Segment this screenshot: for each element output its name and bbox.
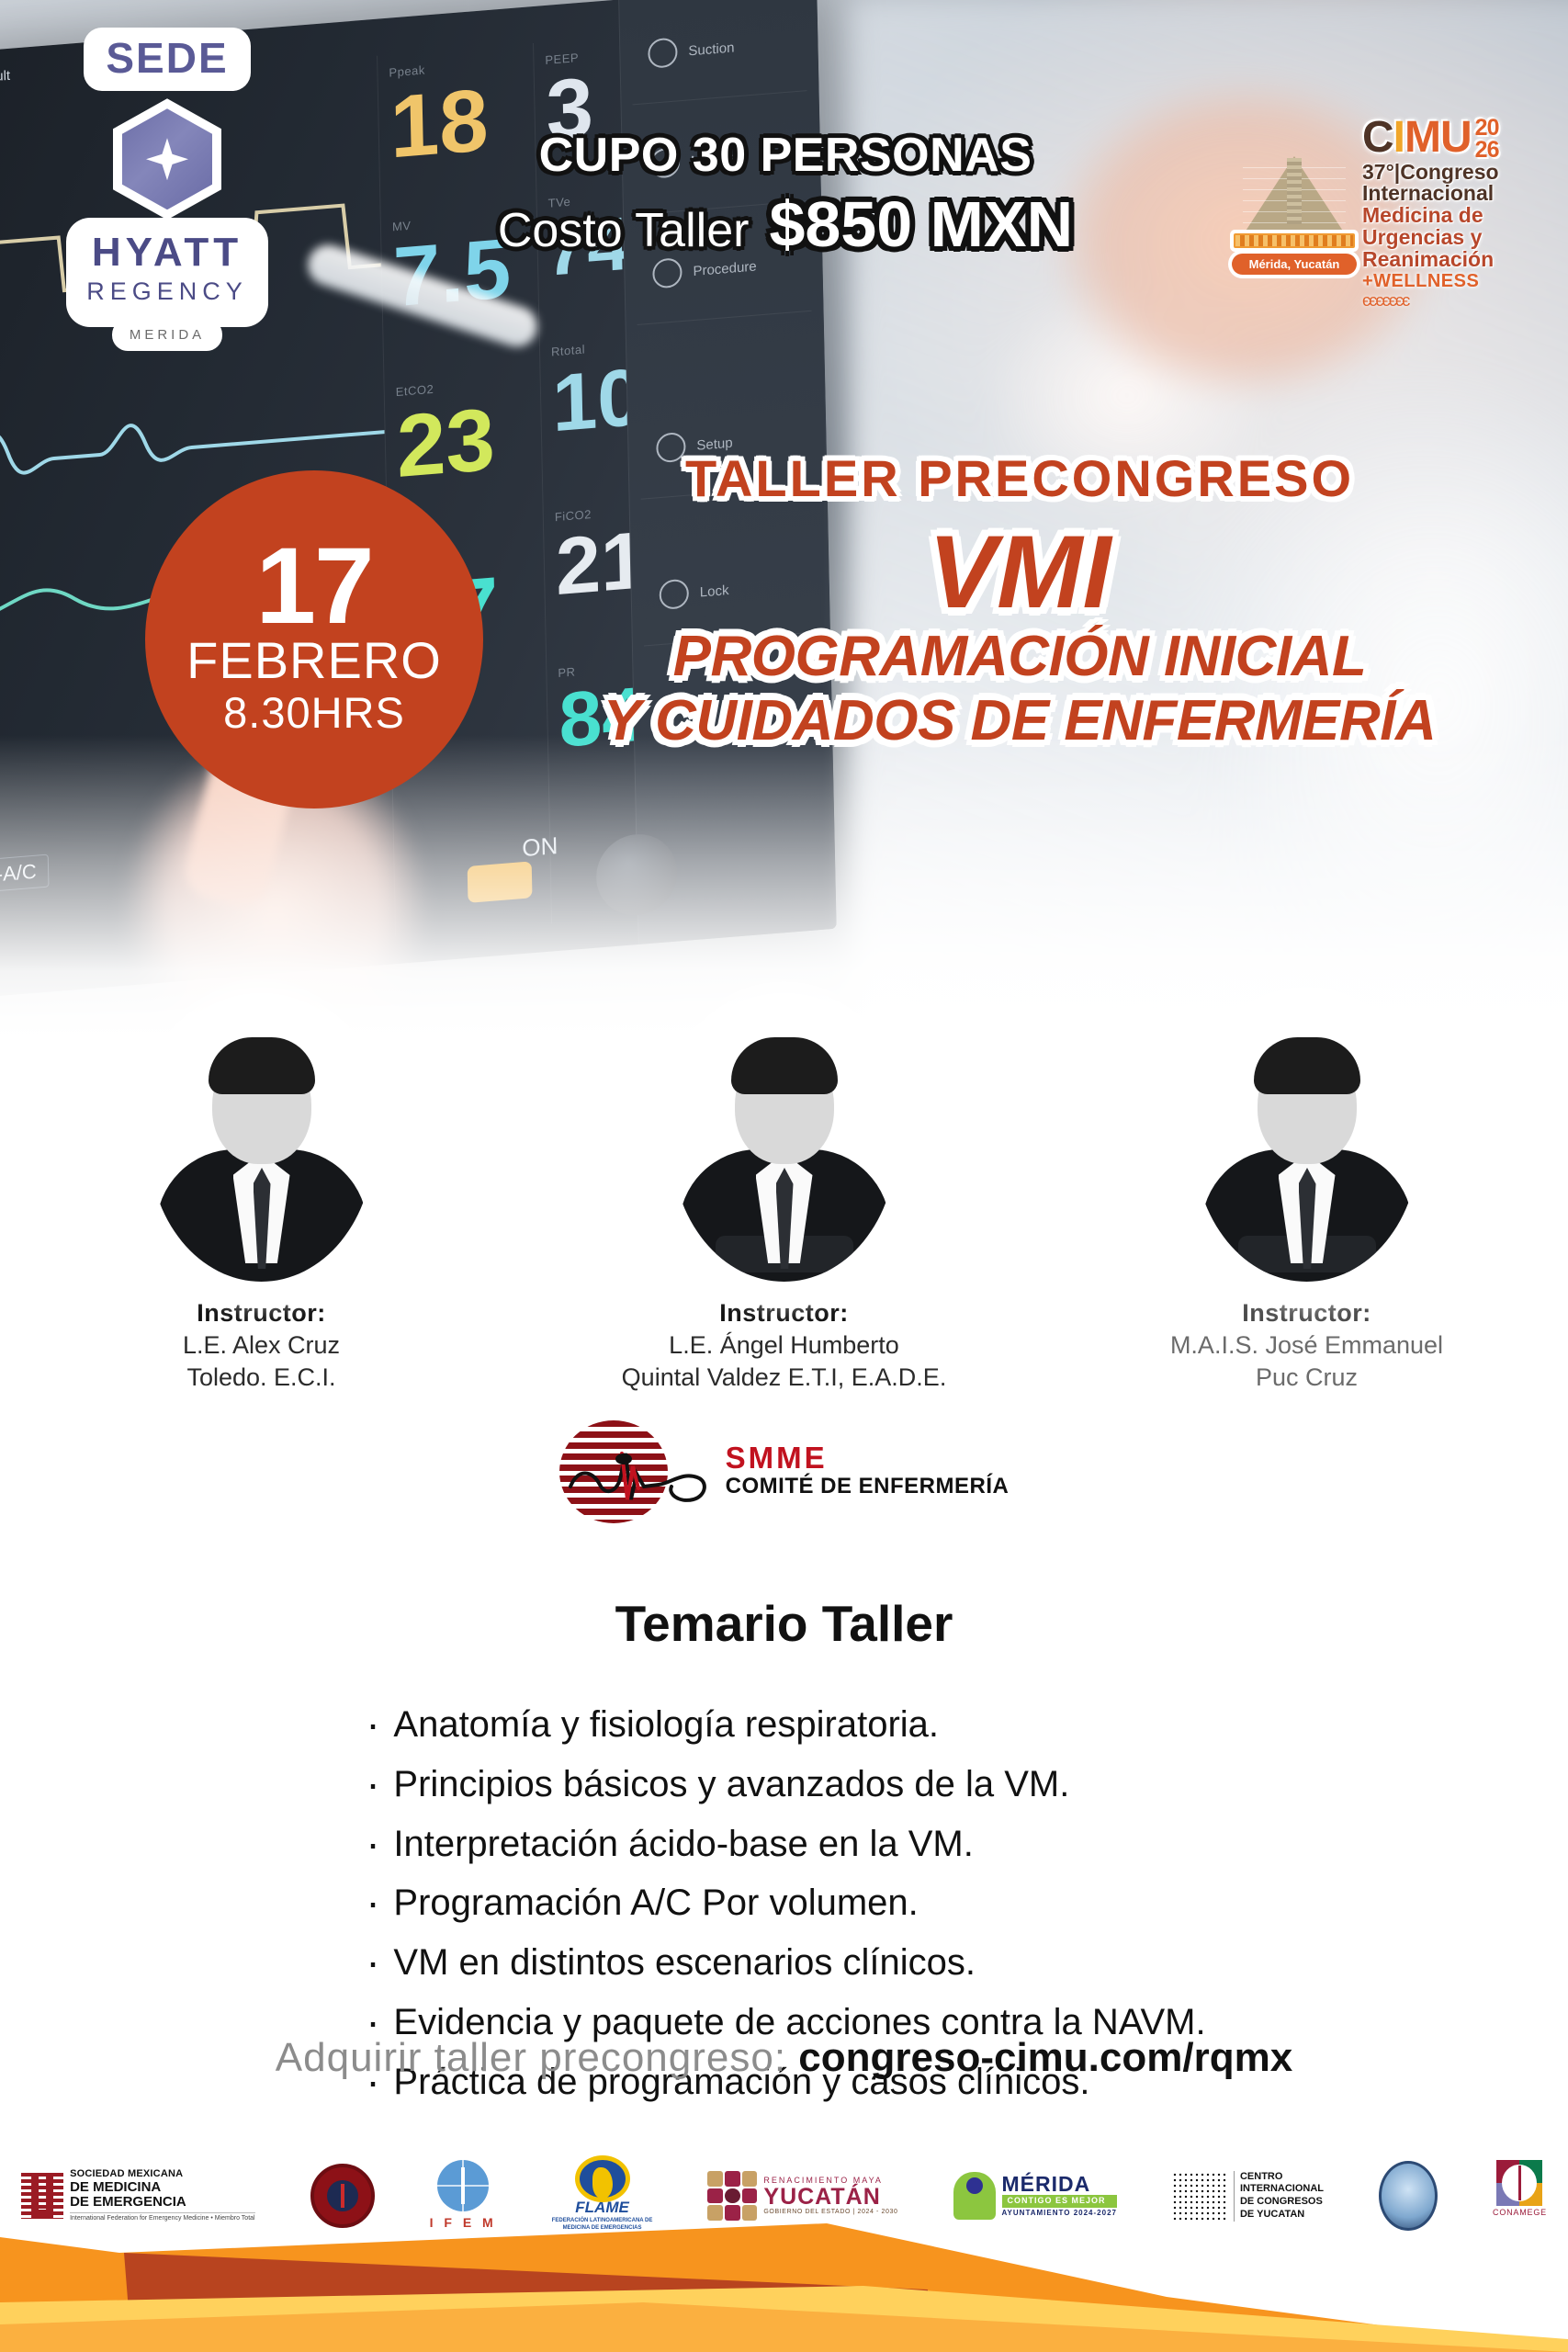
date-time: 8.30HRS (223, 688, 405, 738)
committee-logo: SMME COMITÉ DE ENFERMERÍA (0, 1415, 1568, 1527)
syllabus-item: Programación A/C Por volumen. (362, 1873, 1205, 1933)
cimu-letters-mu: MU (1404, 113, 1472, 162)
instructor-name-1-line1: L.E. Alex Cruz (0, 1329, 523, 1362)
congress-line-5: Reanimación (1362, 249, 1542, 271)
syllabus-title: Temario Taller (0, 1594, 1568, 1653)
instructor-role-3: Instructor: (1045, 1298, 1568, 1329)
cimu-letter-c: C (1362, 113, 1393, 162)
syllabus-item: Anatomía y fisiología respiratoria. (362, 1695, 1205, 1755)
cta-prefix: Adquirir taller precongreso: (276, 2035, 798, 2080)
cta-url[interactable]: congreso-cimu.com/rqmx (798, 2035, 1292, 2080)
bottom-decorative-waves (0, 2187, 1568, 2352)
congress-logo: Mérida, Yucatán CIMU2026 37°|Congreso In… (1230, 118, 1542, 309)
promo-block: CUPO 30 PERSONAS Costo Taller $850 MXN (423, 129, 1148, 261)
cta-line: Adquirir taller precongreso: congreso-ci… (0, 2035, 1568, 2081)
hyatt-name: HYATT (86, 232, 248, 273)
instructor-name-2-line2: Quintal Valdez E.T.I, E.A.D.E. (523, 1362, 1045, 1394)
congress-line-4: Urgencias y (1362, 227, 1542, 249)
instructors-row: Instructor: L.E. Alex Cruz Toledo. E.C.I… (0, 1006, 1568, 1394)
cost-label: Costo Taller (498, 203, 750, 258)
poster-title-block: TALLER PRECONGRESO VMI PROGRAMACIÓN INIC… (487, 450, 1552, 753)
monitor-adult-label: 👤 Adult (0, 67, 10, 88)
instructor-card-1: Instructor: L.E. Alex Cruz Toledo. E.C.I… (0, 1006, 523, 1394)
instructor-avatar-1 (149, 1006, 374, 1282)
instructor-avatar-2 (671, 1006, 897, 1282)
instructor-role-1: Instructor: (0, 1298, 523, 1329)
syllabus-item: Principios básicos y avanzados de la VM. (362, 1755, 1205, 1815)
title-kicker: TALLER PRECONGRESO (487, 450, 1552, 507)
syllabus-item: Interpretación ácido-base en la VM. (362, 1815, 1205, 1874)
smme-acronym: SMME (726, 1442, 1010, 1473)
congress-wellness: +WELLNESS (1362, 271, 1542, 292)
date-month: FEBRERO (186, 632, 442, 689)
congress-line-2: Internacional (1362, 183, 1542, 205)
syllabus-item: VM en distintos escenarios clínicos. (362, 1933, 1205, 1993)
title-line-2: Y CUIDADOS DE ENFERMERÍA (487, 689, 1552, 753)
cimu-year-bottom: 26 (1475, 137, 1499, 163)
instructor-name-3-line1: M.A.I.S. José Emmanuel (1045, 1329, 1568, 1362)
instructor-role-2: Instructor: (523, 1298, 1045, 1329)
instructor-avatar-3 (1194, 1006, 1419, 1282)
title-acronym: VMI (487, 520, 1552, 625)
pyramid-caption: Mérida, Yucatán (1232, 254, 1357, 275)
smme-name: COMITÉ DE ENFERMERÍA (726, 1473, 1010, 1500)
instructor-name-1-line2: Toledo. E.C.I. (0, 1362, 523, 1394)
congress-line-3: Medicina de (1362, 205, 1542, 227)
hyatt-wordmark: HYATT REGENCY (73, 225, 261, 320)
cic-line1: CENTRO (1240, 2171, 1324, 2184)
hyatt-city: MERIDA (118, 325, 216, 345)
capacity-text: CUPO 30 PERSONAS (423, 129, 1148, 182)
chichen-itza-pyramid-icon: Mérida, Yucatán (1230, 143, 1359, 272)
instructor-name-2-line1: L.E. Ángel Humberto (523, 1329, 1045, 1362)
venue-sede-label: SEDE (89, 33, 244, 85)
congress-ornament: єєєєєєє (1362, 292, 1542, 309)
congress-line-1: 37°|Congreso (1362, 162, 1542, 184)
smme-caduceus-ekg-icon (559, 1415, 720, 1527)
date-badge: 17 FEBRERO 8.30HRS (145, 470, 483, 808)
instructor-name-3-line2: Puc Cruz (1045, 1362, 1568, 1394)
venue-logo-block: SEDE HYATT REGENCY MERIDA (48, 33, 287, 345)
hyatt-sub: REGENCY (86, 273, 248, 311)
date-day: 17 (255, 541, 372, 632)
cimu-letter-i: I (1393, 113, 1404, 162)
instructor-card-3: Instructor: M.A.I.S. José Emmanuel Puc C… (1045, 1006, 1568, 1394)
cimu-wordmark: CIMU2026 (1362, 118, 1542, 162)
cost-amount: $850 MXN (769, 187, 1073, 261)
instructor-card-2: Instructor: L.E. Ángel Humberto Quintal … (523, 1006, 1045, 1394)
title-line-1: PROGRAMACIÓN INICIAL (487, 625, 1552, 689)
hyatt-hexagon-icon (113, 98, 221, 220)
